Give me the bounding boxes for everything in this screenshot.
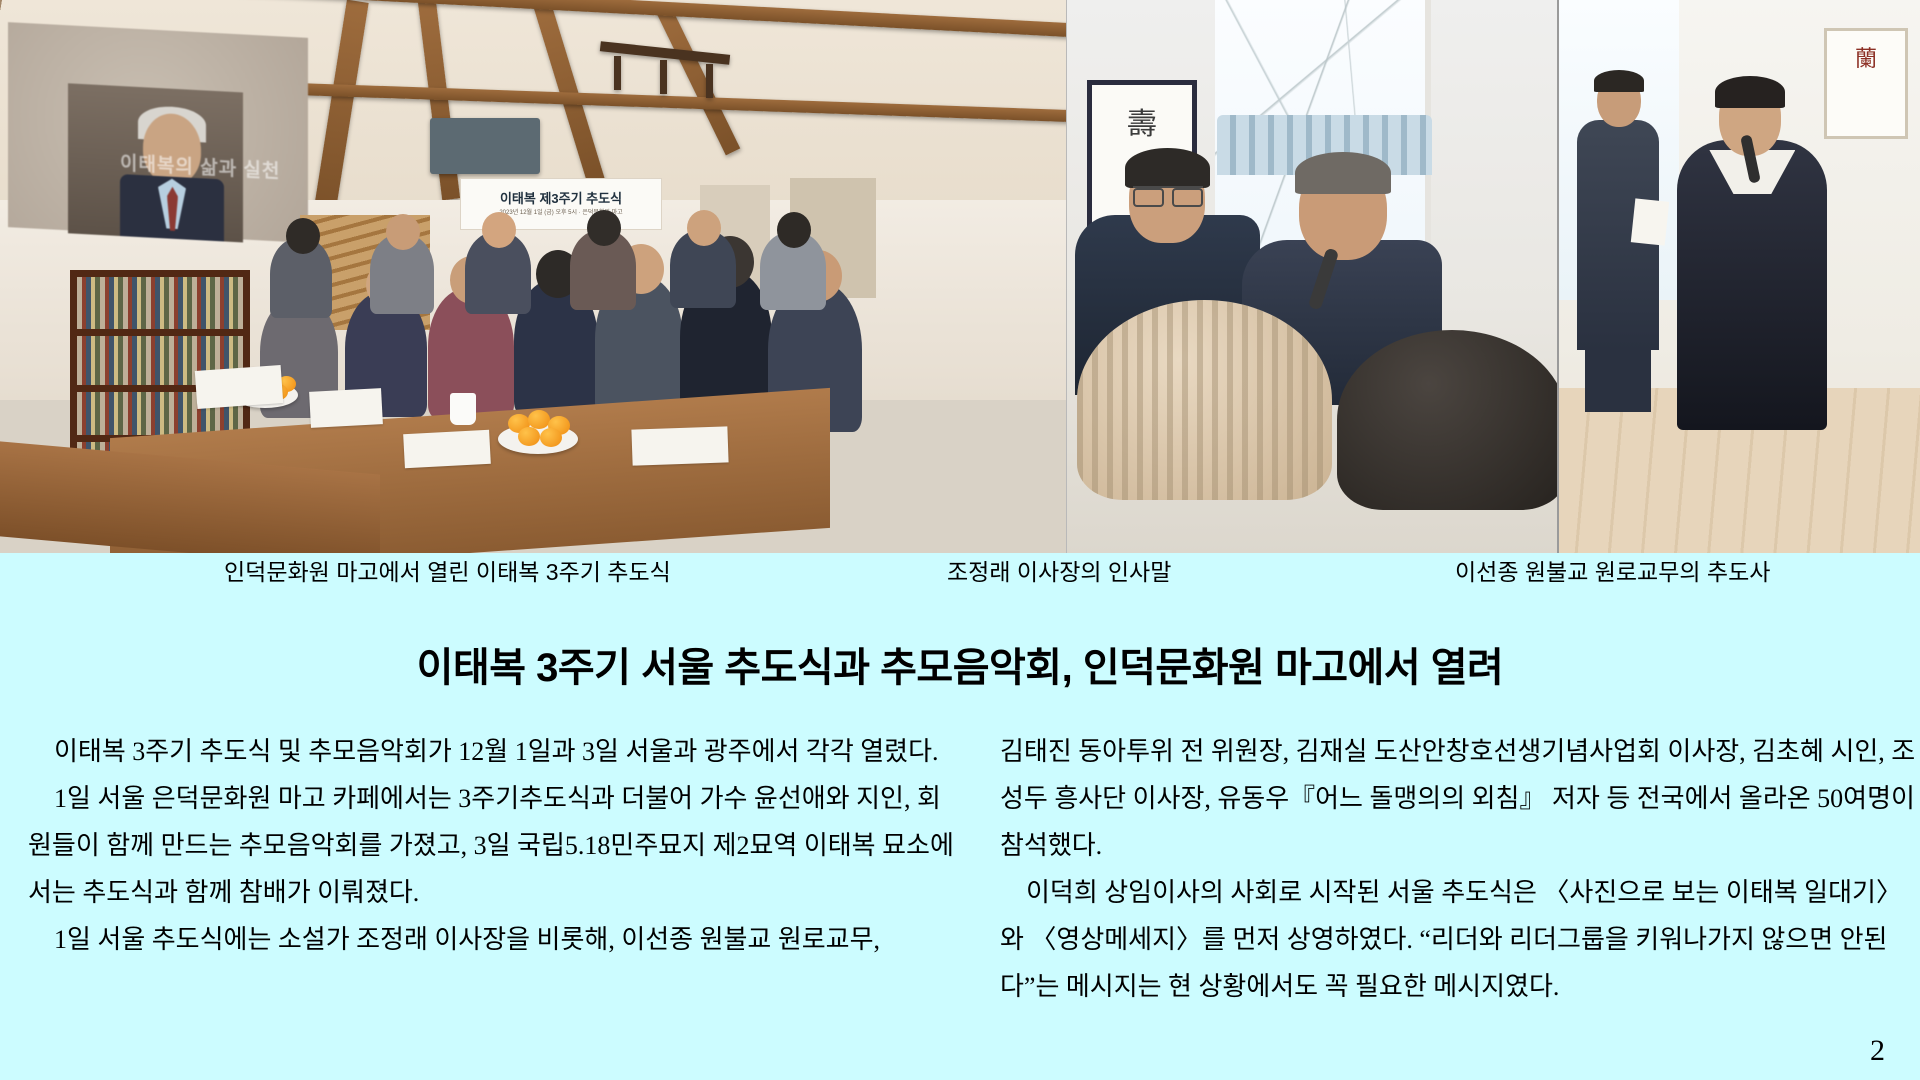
body-paragraph: 김태진 동아투위 전 위원장, 김재실 도산안창호선생기념사업회 이사장, 김초… — [1000, 728, 1920, 869]
paper-sheet — [631, 426, 728, 465]
photo-memorial-address: 蘭 — [1557, 0, 1920, 553]
audience-head — [587, 210, 621, 246]
page-number: 2 — [1870, 1034, 1885, 1068]
chandelier-stem — [660, 60, 667, 94]
body-column-left: 이태복 3주기 추도식 및 추모음악회가 12월 1일과 3일 서울과 광주에서… — [28, 728, 963, 963]
chandelier-stem — [614, 56, 621, 90]
orange — [518, 427, 540, 446]
coffee-cup — [450, 393, 476, 425]
art-glyph: 蘭 — [1827, 41, 1905, 73]
ceiling-ac-unit — [430, 118, 540, 174]
photo-strip: 이태복의 삶과 실천 이태복 제3주기 추도식 2023년 12월 1일 (금)… — [0, 0, 1920, 553]
art-frame: 蘭 — [1824, 28, 1908, 139]
orange — [528, 410, 550, 429]
glasses-icon — [1133, 186, 1203, 204]
caption-memorial-ceremony-hall: 인덕문화원 마고에서 열린 이태복 3주기 추도식 — [224, 553, 671, 587]
speaking-man-hair — [1295, 152, 1391, 194]
speaker-hair — [1715, 76, 1785, 108]
audience-head — [777, 212, 811, 248]
body-paragraph: 1일 서울 추도식에는 소설가 조정래 이사장을 비롯해, 이선종 원불교 원로… — [28, 916, 963, 963]
caption-chairman-greeting: 조정래 이사장의 인사말 — [947, 553, 1171, 587]
photo-captions: 인덕문화원 마고에서 열린 이태복 3주기 추도식 조정래 이사장의 인사말 이… — [0, 553, 1920, 595]
paper-sheet — [403, 430, 491, 468]
projection-screen: 이태복의 삶과 실천 — [8, 22, 308, 243]
newsletter-page: 이태복의 삶과 실천 이태복 제3주기 추도식 2023년 12월 1일 (금)… — [0, 0, 1920, 1080]
calligraphy-glyph: 壽 — [1092, 99, 1192, 143]
standing-man-hair — [1594, 70, 1644, 92]
knit-hat-ribbing — [1077, 300, 1332, 500]
audience-head — [386, 214, 420, 250]
chandelier-stem — [706, 64, 713, 98]
caption-memorial-address: 이선종 원불교 원로교무의 추도사 — [1455, 553, 1770, 587]
books — [77, 277, 243, 453]
seated-man-hair — [1125, 148, 1210, 188]
audience-head — [687, 210, 721, 246]
paper-sheet — [195, 365, 283, 409]
orange — [540, 428, 562, 447]
audience-head — [482, 212, 516, 248]
shelf — [77, 329, 243, 336]
standing-man-legs — [1585, 340, 1651, 412]
body-column-right: 김태진 동아투위 전 위원장, 김재실 도산안창호선생기념사업회 이사장, 김초… — [1000, 728, 1920, 1010]
article-headline: 이태복 3주기 서울 추도식과 추모음악회, 인덕문화원 마고에서 열려 — [0, 635, 1920, 693]
photo-memorial-ceremony-hall: 이태복의 삶과 실천 이태복 제3주기 추도식 2023년 12월 1일 (금)… — [0, 0, 1066, 553]
body-paragraph: 1일 서울 은덕문화원 마고 카페에서는 3주기추도식과 더불어 가수 윤선애와… — [28, 775, 963, 916]
body-paragraph: 이덕희 상임이사의 사회로 시작된 서울 추도식은 〈사진으로 보는 이태복 일… — [1000, 869, 1920, 1010]
foreground-head — [1337, 330, 1557, 510]
article-body: 이태복 3주기 추도식 및 추모음악회가 12월 1일과 3일 서울과 광주에서… — [0, 728, 1920, 1048]
held-paper — [1631, 198, 1669, 245]
body-paragraph: 이태복 3주기 추도식 및 추모음악회가 12월 1일과 3일 서울과 광주에서… — [28, 728, 963, 775]
event-banner-title: 이태복 제3주기 추도식 — [461, 188, 661, 207]
photo-chairman-greeting: 壽 — [1066, 0, 1557, 553]
foreground-knit-hat — [1077, 300, 1332, 500]
paper-sheet — [309, 388, 383, 428]
audience-head — [286, 218, 320, 254]
